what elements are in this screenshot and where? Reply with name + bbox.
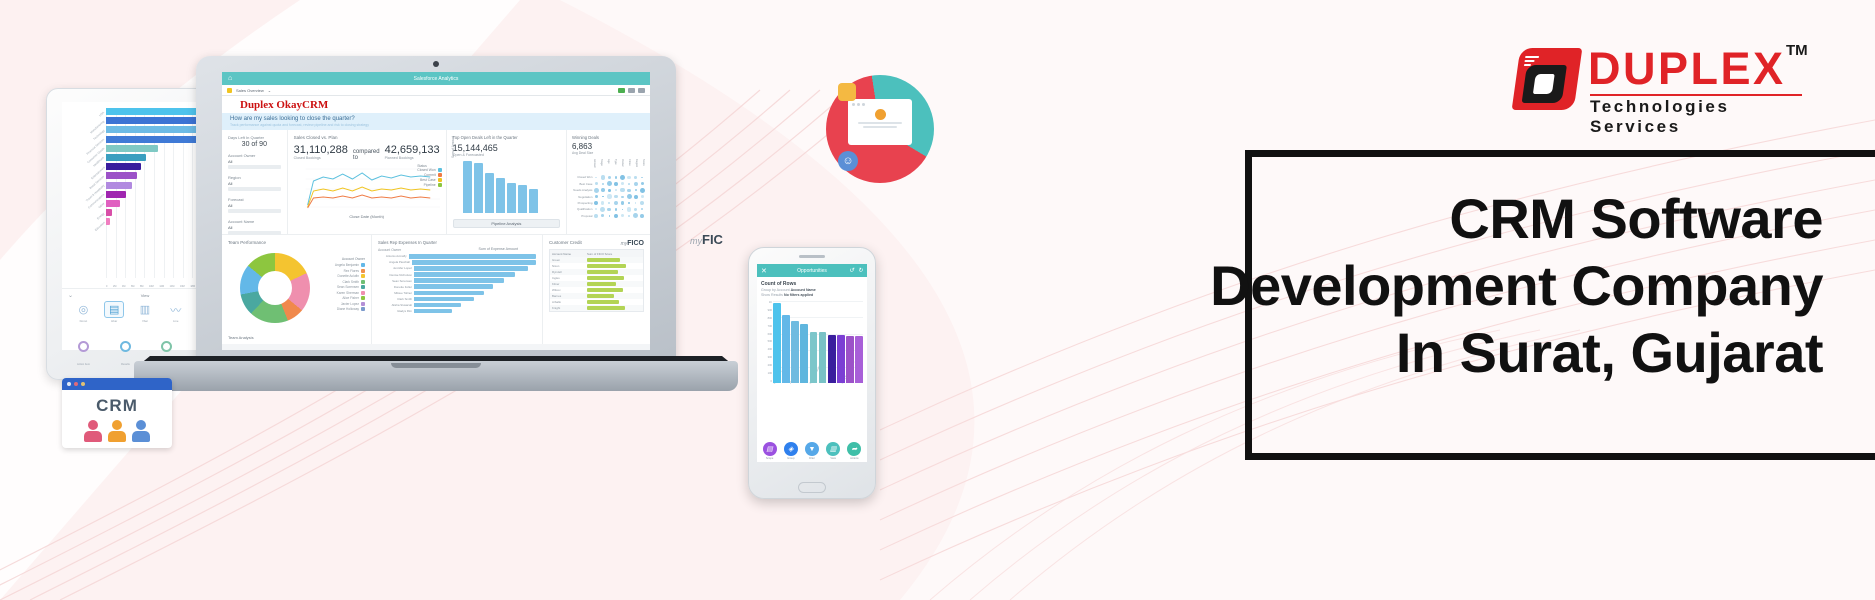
card-dots-icon	[852, 103, 908, 106]
sales-rep-row: Angela Paschall	[378, 260, 536, 265]
team-legend-label: Javier Lopez	[341, 302, 359, 306]
matrix-cell	[639, 208, 645, 210]
matrix-cell	[600, 175, 606, 179]
matrix-cell	[626, 183, 632, 185]
bar	[463, 161, 472, 213]
matrix-col-header: Type	[611, 159, 617, 173]
credit-account-name: Ryndell	[552, 270, 584, 274]
filter-input[interactable]	[228, 187, 281, 191]
matrix-col-header: Stage	[597, 159, 603, 173]
rep-bar	[414, 309, 452, 314]
col-fico-score: Sum of FICO Score	[587, 252, 641, 256]
phone-action-actions[interactable]: ➦Actions	[847, 442, 861, 460]
crm-illustration-icon: ☺	[826, 75, 934, 183]
matrix-col-header: Close	[625, 159, 631, 173]
kpi-plan-label: Planned Bookings	[385, 156, 440, 160]
matrix-cell	[607, 181, 613, 186]
filter-value: All	[228, 225, 281, 230]
rep-name: Mitsue Tollner	[378, 291, 412, 295]
share-chip-icon[interactable]	[628, 88, 635, 93]
crm-badge-people-icon	[62, 420, 172, 442]
crm-filter-panel: Days Left In Quarter 30 of 90 Account Ow…	[222, 130, 288, 234]
credit-score-cell	[587, 300, 641, 304]
matrix-row: Proposal	[572, 213, 645, 218]
team-analysis-link[interactable]: Team Analysis	[228, 335, 254, 340]
team-legend-swatch	[361, 274, 365, 278]
y-tick: 100	[761, 372, 772, 375]
matrix-row: Closed Won	[572, 175, 645, 180]
legend-swatch	[438, 183, 442, 187]
crm-row-bottom: Team Performance Account Owner Angela Be…	[222, 234, 650, 344]
bar	[507, 183, 516, 213]
phone-chart-title: Count of Rows	[761, 281, 863, 287]
matrix-cell	[600, 214, 606, 217]
y-tick: 600	[761, 333, 772, 336]
matrix-cell	[613, 201, 619, 206]
filter-input[interactable]	[228, 165, 281, 169]
y-tick: 300	[761, 356, 772, 359]
credit-bar	[587, 294, 614, 298]
save-chip-icon[interactable]	[618, 88, 625, 93]
bar-label: Education	[93, 220, 105, 231]
credit-account-name: Knight	[552, 306, 584, 310]
sales-rep-row: Donette Foller	[378, 284, 536, 289]
sales-closed-panel: Sales Closed vs. Plan 31,110,288 Closed …	[288, 130, 447, 234]
matrix-cell	[639, 201, 645, 205]
matrix-cell	[620, 188, 626, 192]
customer-credit-table: Account Name Sum of FICO Score GreenNixo…	[549, 249, 644, 312]
rep-bar	[412, 260, 536, 265]
phone-bar	[800, 324, 808, 383]
team-panel-title: Team Performance	[228, 240, 365, 245]
tab-icon	[227, 88, 232, 93]
rep-name: Gladys Rim	[378, 309, 412, 313]
crm-question-sub: Track performance against quota and fore…	[230, 123, 642, 127]
phone-bar	[810, 332, 818, 383]
view-option-label: Donut	[73, 319, 93, 323]
rep-name: Clark Smith	[378, 297, 412, 301]
matrix-cell	[639, 188, 645, 193]
legend-swatch	[438, 173, 442, 177]
x-tick: 10M	[149, 285, 154, 288]
bar	[529, 189, 538, 213]
rep-bar	[414, 291, 484, 296]
matrix-row-label: Proposal	[572, 214, 592, 218]
y-tick: 800	[761, 317, 772, 320]
matrix-cell	[593, 201, 599, 205]
phone-meta-1: Group by Account Account Name	[761, 288, 863, 292]
winning-deals-kpi: 6,863	[572, 142, 645, 151]
legend-label: Pipeline	[424, 183, 436, 187]
sales-rep-row: Alisha Slusarski	[378, 303, 536, 308]
phone-bar	[837, 335, 845, 383]
laptop-lid: ⌂ Salesforce Analytics Sales Overview ⌄	[196, 56, 676, 366]
matrix-cell	[593, 177, 599, 179]
view-option-label: Hbar	[104, 319, 124, 323]
matrix-cell	[633, 202, 639, 204]
team-legend-item: Rex Flores	[335, 269, 365, 273]
matrix-cell	[639, 177, 645, 179]
view-option-hbar[interactable]: ▤Hbar	[104, 301, 124, 323]
sales-rep-row: Gladys Rim	[378, 309, 536, 314]
filter-value: All	[228, 203, 281, 208]
matrix-cell	[613, 182, 619, 186]
sales-rep-row: Jennifer Lopez	[378, 266, 536, 271]
person-icon	[108, 420, 126, 442]
bar-fill	[106, 154, 146, 161]
x-tick: 12M	[159, 285, 164, 288]
duplex-mark-icon	[1512, 48, 1583, 110]
bar-fill	[106, 182, 132, 189]
matrix-col-header: Amount	[590, 159, 596, 173]
phone-bar	[819, 332, 827, 383]
kpi-compare-text: compared to	[353, 149, 380, 161]
y-tick: 900	[761, 309, 772, 312]
credit-account-name: Arballo	[552, 300, 584, 304]
chevron-down-icon[interactable]: ⌄	[68, 292, 73, 299]
filter-label: Account Owner	[228, 153, 281, 158]
matrix-row-label: Negotiation	[572, 195, 592, 199]
matrix-cell	[593, 188, 599, 193]
crm-question-banner: How are my sales looking to close the qu…	[222, 113, 650, 130]
team-legend-item: Donette Aclufin	[335, 274, 365, 278]
bar-fill	[106, 200, 120, 207]
rep-bar	[414, 272, 515, 277]
credit-account-name: Nixon	[552, 264, 584, 268]
webcam-icon	[433, 61, 439, 67]
meta1-prefix: Group by Account	[761, 288, 790, 292]
open-deals-bar-chart	[463, 161, 560, 213]
matrix-cell	[633, 195, 639, 199]
matrix-cell	[626, 202, 632, 205]
legend-label: Commit	[424, 173, 436, 177]
sales-rep-title: Sales Rep Expenses In Quarter	[378, 240, 536, 245]
matrix-cell	[633, 182, 639, 186]
matrix-row: Qualification	[572, 207, 645, 212]
sales-rep-row: Denise Nicholson	[378, 272, 536, 277]
view-option-donut[interactable]: ◎Donut	[73, 301, 93, 323]
view-option-vbar[interactable]: ▥Vbar	[135, 301, 155, 323]
view-icon: ▥	[826, 442, 840, 456]
matrix-col-header: Score	[639, 159, 645, 173]
more-chip-icon[interactable]	[638, 88, 645, 93]
window-dot-red-icon	[74, 382, 78, 386]
credit-score-cell	[587, 288, 641, 292]
days-left-label: Days Left In Quarter	[228, 135, 281, 140]
x-tick: 14M	[170, 285, 175, 288]
trademark-icon: TM	[1786, 42, 1808, 59]
crm-brand-title: Duplex OkayCRM	[222, 96, 650, 113]
matrix-cell	[607, 208, 613, 212]
bar-fill	[106, 191, 126, 198]
filter-label: Forecast	[228, 197, 281, 202]
avatar-icon	[875, 109, 886, 120]
credit-score-cell	[587, 306, 641, 310]
matrix-cell	[620, 209, 626, 211]
meta1-value[interactable]: Account Name	[791, 288, 816, 292]
meta2-value[interactable]: No filters applied	[784, 293, 813, 297]
dock-action-item[interactable]: Action Item	[77, 341, 90, 370]
sales-rep-chart-label: Sum of Expense Amount	[478, 247, 518, 251]
credit-bar	[587, 306, 625, 310]
y-tick: 1K	[761, 301, 772, 304]
user-icon: ☺	[838, 151, 858, 171]
x-tick: 0	[106, 285, 107, 288]
bar-label: Other	[97, 202, 105, 210]
myfico-text: FICO	[627, 240, 644, 247]
phone-meta-2: Show Results No filters applied	[761, 293, 863, 297]
bar-fill	[106, 218, 110, 225]
matrix-cell	[593, 182, 599, 185]
window-dot-green-icon	[67, 382, 71, 386]
crm-topbar: ⌂ Salesforce Analytics	[222, 72, 650, 85]
y-tick: 200	[761, 364, 772, 367]
filter-value: All	[228, 181, 281, 186]
action-label: Filter	[805, 457, 819, 460]
kpi-actual-value: 31,110,288	[294, 144, 348, 156]
filter-label: Account Name	[228, 219, 281, 224]
laptop-screen: ⌂ Salesforce Analytics Sales Overview ⌄	[222, 72, 650, 350]
team-legend-swatch	[361, 285, 365, 289]
matrix-col-header: Age	[604, 159, 610, 173]
filter-field[interactable]: Account OwnerAll	[228, 153, 281, 169]
scope-icon: ▤	[763, 442, 777, 456]
team-donut-chart	[240, 253, 310, 323]
matrix-cell	[607, 176, 613, 179]
rep-bar	[414, 303, 461, 308]
bar-fill	[106, 163, 141, 170]
sales-rep-row: Antonio Acmafly	[378, 254, 536, 259]
team-legend-item: Clark Smith	[335, 280, 365, 284]
caret-down-icon[interactable]: ⌄	[268, 88, 271, 93]
view-option-line[interactable]: 〰Line	[166, 301, 186, 323]
matrix-row-label: Closed Won	[572, 175, 592, 179]
filter-icon: ▼	[805, 442, 819, 456]
open-deals-kpi-label: Open & Forecasted	[453, 153, 560, 157]
credit-score-cell	[587, 276, 641, 280]
rep-name: Alisha Slusarski	[378, 303, 412, 307]
matrix-row-label: Qualification	[572, 207, 592, 211]
team-legend-swatch	[361, 302, 365, 306]
person-icon	[84, 420, 102, 442]
matrix-cell	[626, 176, 632, 180]
matrix-cell	[593, 195, 599, 198]
matrix-cell	[593, 214, 599, 218]
logo-divider	[1590, 94, 1802, 96]
crm-tab-label[interactable]: Sales Overview	[236, 88, 264, 93]
phone-bar	[791, 321, 799, 383]
team-legend-label: Donette Aclufin	[338, 274, 359, 278]
sales-legend: Status Closed WonCommitBest CasePipeline	[417, 164, 441, 188]
rep-name: Denise Nicholson	[378, 273, 412, 277]
tabbar-actions[interactable]	[618, 88, 645, 93]
matrix-row-label: Prospecting	[572, 201, 592, 205]
action-label: Group	[784, 457, 798, 460]
filter-label: Region	[228, 175, 281, 180]
phone-action-scope[interactable]: ▤Scope	[763, 442, 777, 460]
dock-label: Results	[121, 363, 130, 366]
winning-deals-kpi-label: Avg Deal Size	[572, 151, 645, 155]
credit-score-cell	[587, 258, 641, 262]
matrix-cell	[620, 175, 626, 180]
crm-badge-label: CRM	[62, 396, 172, 416]
matrix-cell	[633, 213, 639, 218]
logo-tagline: Technologies Services	[1590, 97, 1816, 137]
headline-line-1: CRM Software	[1123, 185, 1823, 252]
view-option-label: Vbar	[135, 319, 155, 323]
open-deals-kpi: 15,144,465	[453, 143, 560, 153]
headline-line-2: Development Company	[1123, 252, 1823, 319]
rep-name: Angela Paschall	[378, 260, 410, 264]
matrix-cell	[593, 208, 599, 210]
phone-content: Count of Rows Group by Account Account N…	[757, 277, 867, 435]
matrix-cell	[620, 201, 626, 205]
legend-swatch	[438, 178, 442, 182]
credit-bar	[587, 270, 618, 274]
window-dot-yellow-icon	[81, 382, 85, 386]
filter-field[interactable]: ForecastAll	[228, 197, 281, 213]
rep-name: Donette Foller	[378, 285, 412, 289]
brand-logo[interactable]: DUPLEX TM Technologies Services	[1516, 44, 1816, 118]
y-tick: 400	[761, 348, 772, 351]
phone-home-button[interactable]	[798, 482, 826, 493]
kpi-actual-label: Closed Bookings	[294, 156, 348, 160]
phone-bar	[773, 303, 781, 383]
myfico-logo: myFICO	[621, 240, 644, 247]
dock-results[interactable]: Results	[120, 341, 131, 370]
table-header: Account Name Sum of FICO Score	[550, 250, 643, 257]
phone-action-group[interactable]: ◈Group	[784, 442, 798, 460]
matrix-row: Negotiation	[572, 194, 645, 199]
credit-bar	[587, 288, 623, 292]
team-legend-item: Diane Holloway	[335, 307, 365, 311]
open-deals-title: Top Open Deals Left in the Quarter	[453, 135, 560, 140]
x-tick: 4M	[122, 285, 125, 288]
laptop-base	[134, 361, 738, 391]
matrix-cell	[600, 188, 606, 192]
x-tick: 18M	[190, 285, 195, 288]
filter-field[interactable]: RegionAll	[228, 175, 281, 191]
phone-bar	[855, 336, 863, 383]
phone-bar	[828, 335, 836, 383]
filter-input[interactable]	[228, 209, 281, 213]
phone-bar	[782, 315, 790, 383]
y-tick: 500	[761, 340, 772, 343]
legend-swatch	[438, 168, 442, 172]
bar	[485, 173, 494, 213]
sales-rep-row: Sean Sorensen	[378, 278, 536, 283]
action-label: View	[826, 457, 840, 460]
phone-header: ✕ Opportunities ↺ ↻	[757, 264, 867, 277]
bar-fill	[106, 172, 137, 179]
rep-bar	[414, 284, 493, 289]
credit-bar	[587, 300, 619, 304]
banner-root: USAManufacturingTechnologyFinancial Serv…	[0, 0, 1875, 600]
team-legend-swatch	[361, 263, 365, 267]
phone-chart-x-labels: Dickenson plcAbbott IndustriesGenomic Re…	[761, 383, 863, 431]
actions-icon: ➦	[847, 442, 861, 456]
matrix-row-label: Best Case	[572, 182, 592, 186]
matrix-cell	[600, 196, 606, 198]
team-legend: Account Owner Angela BenjaminRex FloresD…	[335, 257, 365, 313]
credit-row: Knight	[550, 305, 643, 311]
page-title: CRM Software Development Company In Sura…	[1123, 185, 1823, 386]
matrix-cell	[620, 196, 626, 198]
bar-chart-icon: ▤	[104, 301, 124, 318]
matrix-cell	[639, 195, 645, 198]
days-left-value: 30 of 90	[228, 141, 281, 148]
credit-score-cell	[587, 282, 641, 286]
pipeline-analysis-button[interactable]: Pipeline Analysis	[453, 219, 560, 228]
matrix-cell	[633, 176, 639, 179]
legend-item: Closed Won	[417, 168, 441, 172]
redo-icon[interactable]: ↻	[858, 267, 863, 274]
col-account-name: Account Name	[552, 252, 584, 256]
matrix-cell	[633, 189, 639, 191]
action-label: Actions	[847, 457, 861, 460]
bar-label: USA	[98, 110, 105, 117]
y-tick: 0	[761, 380, 772, 383]
crm-question-main: How are my sales looking to close the qu…	[230, 116, 642, 122]
undo-icon[interactable]: ↺	[849, 267, 854, 274]
filter-field[interactable]: Account NameAll	[228, 219, 281, 235]
phone-action-filter[interactable]: ▼Filter	[805, 442, 819, 460]
laptop-device: ⌂ Salesforce Analytics Sales Overview ⌄	[196, 56, 676, 396]
x-tick: 8M	[140, 285, 143, 288]
credit-account-name: Ingles	[552, 276, 584, 280]
matrix-col-header: Region	[632, 159, 638, 173]
team-legend-label: Rex Flores	[344, 269, 359, 273]
legend-item: Best Case	[417, 178, 441, 182]
winning-deals-matrix: AmountStageAgeTypeOwnerCloseRegionScore …	[572, 159, 645, 218]
matrix-cell	[639, 182, 645, 185]
bar-fill	[106, 145, 158, 152]
matrix-cell	[613, 189, 619, 191]
team-legend-label: Clark Smith	[343, 280, 359, 284]
matrix-cell	[626, 215, 632, 217]
team-legend-swatch	[361, 296, 365, 300]
person-icon	[132, 420, 150, 442]
credit-score-cell	[587, 270, 641, 274]
matrix-cell	[620, 214, 626, 217]
screen-card-icon	[848, 99, 912, 145]
line-chart-label: Close Date (Month)	[294, 214, 440, 219]
phone-chart-y-axis: 1K9008007006005004003002001000	[761, 301, 772, 383]
team-legend-swatch	[361, 291, 365, 295]
customer-credit-panel: Customer Credit myFICO Account Name Sum …	[542, 235, 650, 344]
bar-label: Energy	[96, 211, 105, 220]
credit-account-name: Wilcox	[552, 288, 584, 292]
x-tick: 6M	[131, 285, 134, 288]
phone-action-view[interactable]: ▥View	[826, 442, 840, 460]
matrix-row: Prospecting	[572, 201, 645, 206]
rep-name: Antonio Acmafly	[378, 254, 407, 258]
phone-action-bar[interactable]: ▤Scope◈Group▼Filter▥View➦Actions	[757, 442, 867, 460]
phone-bar	[846, 336, 854, 383]
dock-label: Action Item	[77, 363, 90, 366]
credit-score-cell	[587, 294, 641, 298]
kpi-plan-value: 42,659,133	[385, 144, 440, 156]
phone-bar-chart: 1K9008007006005004003002001000	[761, 301, 863, 383]
credit-account-name: Kilner	[552, 282, 584, 286]
matrix-cell	[626, 189, 632, 192]
speed-lines-icon	[1524, 56, 1540, 68]
matrix-cell	[626, 207, 632, 211]
matrix-cell	[607, 215, 613, 217]
legend-label: Best Case	[420, 178, 436, 182]
bar	[496, 178, 505, 213]
phone-header-actions[interactable]: ↺ ↻	[849, 267, 863, 274]
